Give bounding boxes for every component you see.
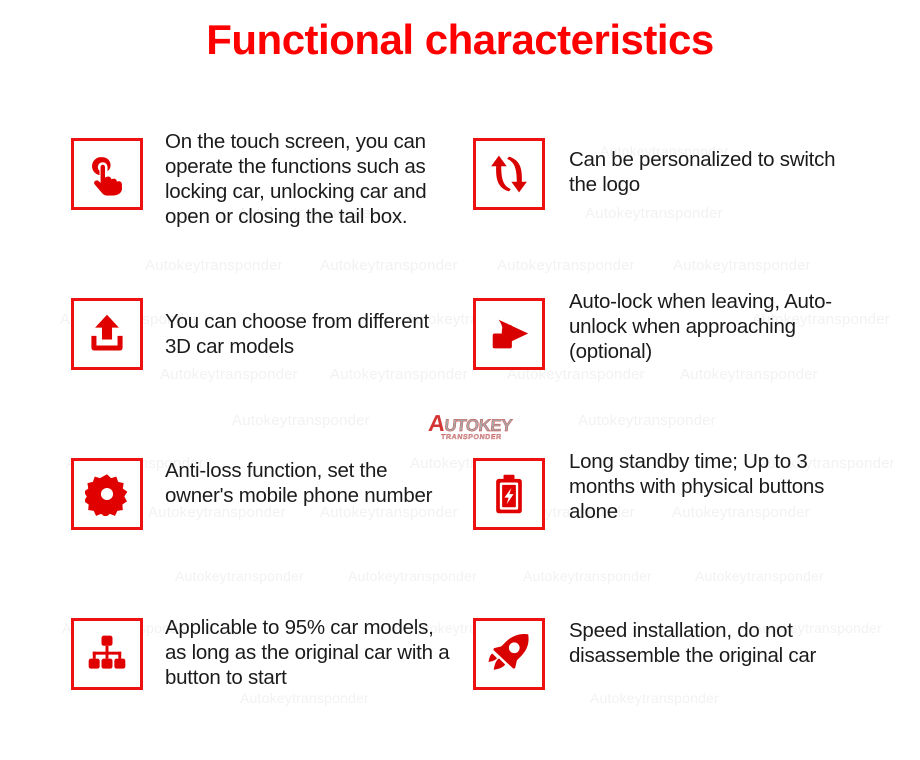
feature-grid: On the touch screen, you can operate the… <box>0 120 920 760</box>
feature-text: Anti-loss function, set the owner's mobi… <box>165 458 460 508</box>
feature-text: You can choose from different 3D car mod… <box>165 309 460 359</box>
feature-item-touch-screen: On the touch screen, you can operate the… <box>0 120 460 280</box>
touch-gesture-icon <box>71 138 143 210</box>
feature-item-auto-lock-unlock: Auto-lock when leaving, Auto-unlock when… <box>460 280 920 440</box>
hierarchy-sitemap-icon <box>71 618 143 690</box>
feature-item-long-standby: Long standby time; Up to 3 months with p… <box>460 440 920 600</box>
battery-bolt-icon <box>473 458 545 530</box>
feature-text: Auto-lock when leaving, Auto-unlock when… <box>569 289 859 364</box>
feature-item-3d-car-models: You can choose from different 3D car mod… <box>0 280 460 440</box>
feature-item-speed-installation: Speed installation, do not disassemble t… <box>460 600 920 760</box>
feature-item-anti-loss: Anti-loss function, set the owner's mobi… <box>0 440 460 600</box>
rocket-icon <box>473 618 545 690</box>
feature-item-car-model-coverage: Applicable to 95% car models, as long as… <box>0 600 460 760</box>
feature-text: On the touch screen, you can operate the… <box>165 129 460 229</box>
gear-icon <box>71 458 143 530</box>
feature-text: Long standby time; Up to 3 months with p… <box>569 449 859 524</box>
feature-text: Applicable to 95% car models, as long as… <box>165 615 460 690</box>
unlock-padlock-motion-icon <box>473 298 545 370</box>
upload-tray-icon <box>71 298 143 370</box>
page-title: Functional characteristics <box>0 16 920 64</box>
feature-text: Can be personalized to switch the logo <box>569 147 859 197</box>
feature-item-switch-logo: Can be personalized to switch the logo <box>460 120 920 280</box>
feature-text: Speed installation, do not disassemble t… <box>569 618 859 668</box>
swap-arrows-icon <box>473 138 545 210</box>
